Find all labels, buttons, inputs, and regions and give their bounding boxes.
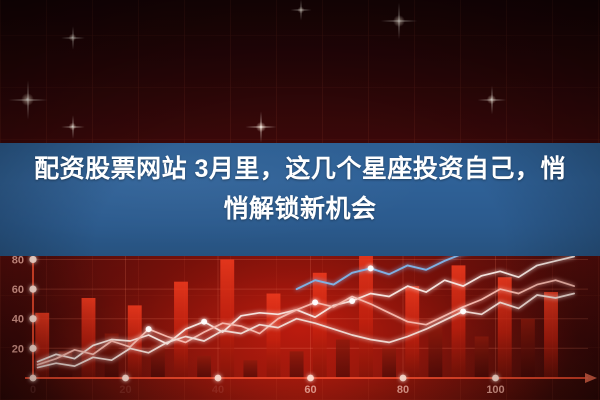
banner-image: 20406080100020406080100 配资股票网站 3月里，这几个星座… (0, 0, 600, 400)
title-line-2: 悄解锁新机会 (26, 189, 574, 229)
title-line-1: 配资股票网站 3月里，这几个星座投资自己，悄 (26, 149, 574, 189)
page-title: 配资股票网站 3月里，这几个星座投资自己，悄 悄解锁新机会 (0, 149, 600, 229)
